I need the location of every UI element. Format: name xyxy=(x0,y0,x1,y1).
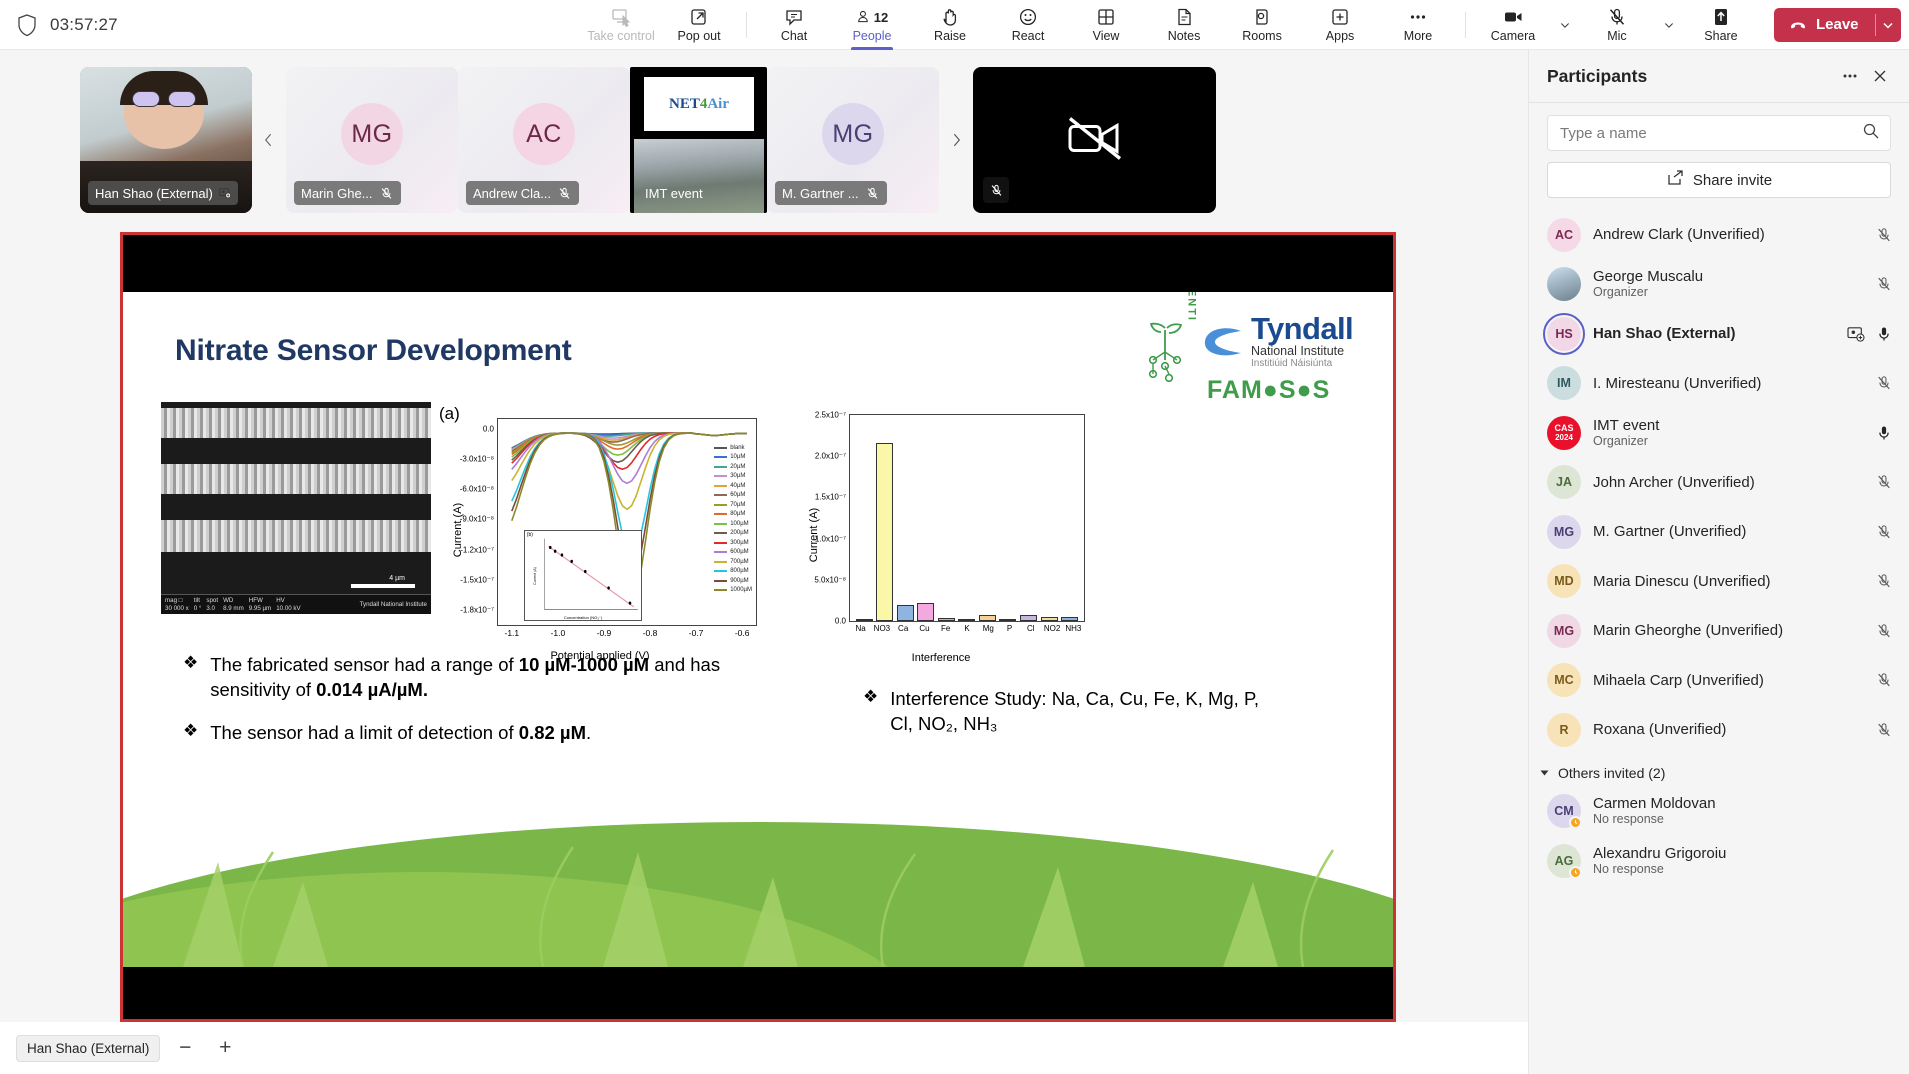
toolbar-button-label: Camera xyxy=(1491,29,1535,43)
share-invite-icon xyxy=(1666,169,1684,191)
legend-swatch xyxy=(714,570,727,572)
tile-name-label: Andrew Cla... xyxy=(473,186,551,201)
chart-a-panel-label: (a) xyxy=(439,404,460,424)
participant-icons xyxy=(1875,473,1893,491)
toolbar-button-label: Raise xyxy=(934,29,966,43)
participant-name: M. Gartner (Unverified) xyxy=(1593,523,1863,540)
avatar: JA xyxy=(1547,465,1581,499)
chart-a-xtick: -1.0 xyxy=(551,628,566,638)
participant-row[interactable]: MG M. Gartner (Unverified) xyxy=(1529,507,1909,557)
tile-name-chip: Han Shao (External) xyxy=(88,181,238,205)
sem-field-0: mag □ xyxy=(165,597,189,605)
chart-b-category-label: K xyxy=(964,624,969,633)
slide-bullet: ❖ The sensor had a limit of detection of… xyxy=(183,720,763,745)
mic-muted-list-icon[interactable] xyxy=(1875,671,1893,689)
chart-a-ytick: 0.0 xyxy=(483,425,494,434)
toolbar-button-rooms[interactable]: Rooms xyxy=(1223,0,1301,50)
participant-name: Han Shao (External) xyxy=(1593,325,1835,342)
camera-off-icon xyxy=(1065,115,1125,161)
legend-swatch xyxy=(714,542,727,544)
screen-share-icon[interactable] xyxy=(1847,326,1865,342)
participant-row[interactable]: MG Marin Gheorghe (Unverified) xyxy=(1529,606,1909,656)
sarmenti-label: SARMENTI xyxy=(1185,292,1197,322)
mic-muted-small-icon xyxy=(865,186,880,201)
participant-response-status: No response xyxy=(1593,812,1893,827)
share-up-arrow-icon xyxy=(1710,6,1732,28)
participant-info: John Archer (Unverified) xyxy=(1593,474,1863,491)
mic-muted-small-icon xyxy=(379,186,394,201)
sem-value-2: 3.0 xyxy=(206,605,218,613)
chart-b-category-label: Fe xyxy=(941,624,950,633)
legend-swatch xyxy=(714,523,727,525)
participant-icons xyxy=(1847,325,1893,343)
shield-icon xyxy=(16,13,38,37)
zoom-out-button[interactable]: − xyxy=(170,1033,200,1063)
mic-unmuted-icon[interactable] xyxy=(1875,424,1893,442)
legend-swatch xyxy=(714,551,727,553)
invited-participant-row[interactable]: AG Alexandru Grigoroiu No response xyxy=(1529,836,1909,886)
video-tile-avatar[interactable]: MGM. Gartner ... xyxy=(767,67,939,213)
tyndall-sub1: National Institute xyxy=(1251,344,1353,358)
legend-label: 1000µM xyxy=(730,587,752,593)
chart-a-legend-entry: 800µM xyxy=(714,567,752,577)
rooms-icon xyxy=(1251,6,1273,28)
filmstrip-next-button[interactable] xyxy=(939,67,973,213)
chart-b-category-label: Ca xyxy=(898,624,908,633)
toolbar-button-raise[interactable]: Raise xyxy=(911,0,989,50)
chart-a-legend-entry: 700µM xyxy=(714,557,752,567)
hangup-icon xyxy=(1788,15,1808,35)
chart-a-legend: blank 10µM 20µM 30µM 40µM 60µM 70µM 80µM… xyxy=(714,443,752,595)
toolbar-button-label: React xyxy=(1012,29,1045,43)
more-ellipsis-icon[interactable] xyxy=(1835,61,1865,91)
legend-label: 900µM xyxy=(730,578,748,584)
filmstrip-prev-button[interactable] xyxy=(252,67,286,213)
slide-logos: SARMENTI Tyndall National Institute Inst… xyxy=(1139,314,1369,400)
legend-label: 40µM xyxy=(730,483,745,489)
chart-a-xtick: -0.9 xyxy=(597,628,612,638)
legend-label: 20µM xyxy=(730,464,745,470)
chart-a-xtick: -0.7 xyxy=(689,628,704,638)
participant-role: Organizer xyxy=(1593,285,1863,300)
sem-value-0: 30 000 x xyxy=(165,605,189,613)
calibration-inset-chart: (b) Current (A) Concentration (NO₃⁻) xyxy=(524,530,643,621)
participant-name: Marin Gheorghe (Unverified) xyxy=(1593,622,1863,639)
chart-a-legend-entry: 100µM xyxy=(714,519,752,529)
participant-info: Mihaela Carp (Unverified) xyxy=(1593,672,1863,689)
chevron-right-icon xyxy=(947,129,965,151)
chart-b-bar xyxy=(979,615,996,621)
share-invite-button[interactable]: Share invite xyxy=(1547,162,1891,198)
screen-share-icon[interactable] xyxy=(219,185,231,201)
chart-a-legend-entry: 40µM xyxy=(714,481,752,491)
participant-icons xyxy=(1875,275,1893,293)
mic-muted-list-icon[interactable] xyxy=(1875,572,1893,590)
chart-b-category-label: P xyxy=(1007,624,1012,633)
mic-muted-list-icon[interactable] xyxy=(1875,226,1893,244)
sem-value-6: Tyndall National Institute xyxy=(360,601,427,609)
sem-field-3: WD xyxy=(223,597,244,605)
zoom-in-button[interactable]: + xyxy=(210,1033,240,1063)
avatar xyxy=(1547,267,1581,301)
meeting-timer: 03:57:27 xyxy=(50,15,118,35)
sem-value-3: 8.9 mm xyxy=(223,605,244,613)
famosos-logo: FAM●S●S xyxy=(1207,376,1330,405)
tile-name-chip: Andrew Cla... xyxy=(466,181,579,205)
chevron-left-icon xyxy=(260,129,278,151)
toolbar-button-react[interactable]: React xyxy=(989,0,1067,50)
net4air-label: NET4Air xyxy=(669,96,729,113)
toolbar-button-label: Mic xyxy=(1607,29,1626,43)
legend-swatch xyxy=(714,485,727,487)
participant-name: Mihaela Carp (Unverified) xyxy=(1593,672,1863,689)
search-input[interactable] xyxy=(1560,125,1862,142)
chart-a-ytick: -1.8x10⁻⁷ xyxy=(460,605,494,614)
avatar: HS xyxy=(1547,317,1581,351)
participant-name: Maria Dinescu (Unverified) xyxy=(1593,573,1863,590)
participant-icons xyxy=(1875,374,1893,392)
chevron-down-icon xyxy=(1557,14,1573,36)
chevron-down-icon xyxy=(1881,18,1895,32)
toolbar-button-label: View xyxy=(1093,29,1120,43)
toolbar-button-people[interactable]: 12 People xyxy=(833,0,911,50)
chevron-down-icon xyxy=(1661,14,1677,36)
others-invited-label: Others invited (2) xyxy=(1558,765,1665,781)
legend-swatch xyxy=(714,561,727,563)
tile-name-label: M. Gartner ... xyxy=(782,186,859,201)
presentation-bottom-bar: Han Shao (External) − + xyxy=(0,1022,1528,1074)
leave-options-button[interactable] xyxy=(1875,8,1901,42)
mic-unmuted-icon[interactable] xyxy=(1875,325,1893,343)
participant-name: Roxana (Unverified) xyxy=(1593,721,1863,738)
mic-muted-list-icon[interactable] xyxy=(1875,275,1893,293)
participant-info: IMT event Organizer xyxy=(1593,417,1863,449)
legend-label: 200µM xyxy=(730,530,748,536)
video-tile-active-speaker[interactable]: Han Shao (External) xyxy=(80,67,252,213)
legend-label: 70µM xyxy=(730,502,745,508)
mic-options-button[interactable] xyxy=(1656,0,1682,50)
tyndall-sub2: Institiúid Náisiúnta xyxy=(1251,358,1353,370)
chart-a-legend-entry: 1000µM xyxy=(714,586,752,596)
slide-title: Nitrate Sensor Development xyxy=(175,334,572,368)
participant-info: I. Miresteanu (Unverified) xyxy=(1593,375,1863,392)
participant-name: I. Miresteanu (Unverified) xyxy=(1593,375,1863,392)
toolbar-button-label: Apps xyxy=(1326,29,1355,43)
chart-b-bars xyxy=(850,415,1084,621)
sem-field-5: HV xyxy=(276,597,300,605)
inset-scatter xyxy=(525,531,642,620)
avatar: AG xyxy=(1547,844,1581,878)
chart-a-xtick: -0.8 xyxy=(643,628,658,638)
mic-muted-list-icon[interactable] xyxy=(1875,523,1893,541)
avatar: MG xyxy=(1547,515,1581,549)
participant-info: Carmen Moldovan No response xyxy=(1593,795,1893,827)
legend-swatch xyxy=(714,456,727,458)
video-tile-avatar[interactable]: ACAndrew Cla... xyxy=(458,67,630,213)
legend-label: 300µM xyxy=(730,540,748,546)
chart-a-legend-entry: blank xyxy=(714,443,752,453)
presentation-slide: Nitrate Sensor Development xyxy=(123,292,1393,967)
video-tile-camera-off[interactable] xyxy=(973,67,1216,213)
tyndall-mark-icon xyxy=(1201,321,1245,363)
participant-name: Andrew Clark (Unverified) xyxy=(1593,226,1863,243)
bullet-text: Interference Study: Na, Ca, Cu, Fe, K, M… xyxy=(890,686,1283,736)
search-icon[interactable] xyxy=(1862,122,1880,145)
sarmenti-logo: SARMENTI xyxy=(1139,316,1195,388)
bullet-marker: ❖ xyxy=(183,720,198,745)
take-control-icon xyxy=(610,6,632,28)
inset-xlabel: Concentration (NO₃⁻) xyxy=(525,615,642,620)
participant-icons xyxy=(1875,523,1893,541)
interference-bar-chart: Current (A) Interference 0.05.0x10⁻⁸1.0x… xyxy=(791,404,1091,666)
toolbar-divider xyxy=(746,12,747,38)
shared-screen-stage[interactable]: Nitrate Sensor Development xyxy=(120,232,1396,1022)
toolbar-button-mic[interactable]: Mic xyxy=(1578,0,1656,50)
toolbar-button-label: Share xyxy=(1704,29,1737,43)
chart-b-ytick: 2.5x10⁻⁷ xyxy=(815,411,846,420)
tile-name-chip: IMT event xyxy=(638,181,710,205)
toolbar-button-more[interactable]: More xyxy=(1379,0,1457,50)
participant-info: Maria Dinescu (Unverified) xyxy=(1593,573,1863,590)
chart-a-legend-entry: 200µM xyxy=(714,529,752,539)
teams-meeting-window: 03:57:27 Take control Pop out Chat12 Peo… xyxy=(0,0,1909,1074)
chart-b-bar xyxy=(1061,617,1078,621)
legend-swatch xyxy=(714,589,727,591)
toolbar-button-camera[interactable]: Camera xyxy=(1474,0,1552,50)
chart-a-legend-entry: 80µM xyxy=(714,510,752,520)
chart-a-legend-entry: 20µM xyxy=(714,462,752,472)
chart-b-bar xyxy=(999,619,1016,621)
participant-row[interactable]: MC Mihaela Carp (Unverified) xyxy=(1529,656,1909,706)
chart-b-bar xyxy=(1020,615,1037,621)
toolbar-button-view[interactable]: View xyxy=(1067,0,1145,50)
chart-a-ytick: -1.2x10⁻⁷ xyxy=(460,545,494,554)
chart-a-legend-entry: 600µM xyxy=(714,548,752,558)
legend-swatch xyxy=(714,504,727,506)
legend-swatch xyxy=(714,466,727,468)
participant-name: Alexandru Grigoroiu xyxy=(1593,845,1893,862)
tile-name-label: IMT event xyxy=(645,186,703,201)
participant-info: George Muscalu Organizer xyxy=(1593,268,1863,300)
bullet-marker: ❖ xyxy=(863,686,878,736)
participant-name: John Archer (Unverified) xyxy=(1593,474,1863,491)
slide-bullets-left: ❖ The fabricated sensor had a range of 1… xyxy=(183,652,763,763)
mic-muted-icon xyxy=(1606,6,1628,28)
toolbar-button-take-control: Take control xyxy=(582,0,660,50)
video-tile-room[interactable]: NET4Air IMT event xyxy=(630,67,767,213)
chart-a-ytick: -9.0x10⁻⁸ xyxy=(460,515,494,524)
net4air-logo: NET4Air xyxy=(644,77,754,131)
view-grid-icon xyxy=(1095,6,1117,28)
chart-a-legend-entry: 30µM xyxy=(714,472,752,482)
clock-pending-icon xyxy=(1571,868,1580,877)
participant-row[interactable]: MD Maria Dinescu (Unverified) xyxy=(1529,557,1909,607)
slide-bullet: ❖ The fabricated sensor had a range of 1… xyxy=(183,652,763,702)
bullet-text: The sensor had a limit of detection of 0… xyxy=(210,720,591,745)
share-invite-label: Share invite xyxy=(1693,172,1772,189)
camera-options-button[interactable] xyxy=(1552,0,1578,50)
tile-name-chip: M. Gartner ... xyxy=(775,181,887,205)
chart-b-bar xyxy=(876,443,893,621)
sem-value-4: 9.95 µm xyxy=(249,605,271,613)
toolbar-button-pop-out[interactable]: Pop out xyxy=(660,0,738,50)
legend-label: blank xyxy=(730,445,744,451)
sem-value-5: 10.00 kV xyxy=(276,605,300,613)
chart-b-category-label: Cu xyxy=(919,624,929,633)
legend-label: 80µM xyxy=(730,511,745,517)
toolbar-left: 03:57:27 xyxy=(0,13,582,37)
toolbar-button-chat[interactable]: Chat xyxy=(755,0,833,50)
participant-info: Andrew Clark (Unverified) xyxy=(1593,226,1863,243)
toolbar-button-apps[interactable]: Apps xyxy=(1301,0,1379,50)
avatar: MG xyxy=(341,103,403,165)
sem-scale-label: 4 µm xyxy=(389,575,405,582)
participant-info: Marin Gheorghe (Unverified) xyxy=(1593,622,1863,639)
tyndall-text: Tyndall National Institute Institiúid Ná… xyxy=(1251,314,1353,370)
participant-row[interactable]: IM I. Miresteanu (Unverified) xyxy=(1529,359,1909,409)
chart-b-ytick: 1.0x10⁻⁷ xyxy=(815,534,846,543)
participant-icons xyxy=(1875,226,1893,244)
mic-muted-list-icon[interactable] xyxy=(1875,622,1893,640)
legend-label: 10µM xyxy=(730,454,745,460)
pending-status-icon xyxy=(1569,816,1582,829)
chart-a-legend-entry: 300µM xyxy=(714,538,752,548)
video-tile-avatar[interactable]: MGMarin Ghe... xyxy=(286,67,458,213)
participant-row[interactable]: JA John Archer (Unverified) xyxy=(1529,458,1909,508)
raise-hand-icon xyxy=(939,6,961,28)
chart-b-xlabel: Interference xyxy=(791,652,1091,664)
camera-icon xyxy=(1502,6,1524,28)
more-ellipsis-icon xyxy=(1407,6,1429,28)
chart-a-legend-entry: 60µM xyxy=(714,491,752,501)
tile-name-label: Marin Ghe... xyxy=(301,186,373,201)
legend-swatch xyxy=(714,580,727,582)
toolbar-button-label: Take control xyxy=(587,29,654,43)
sem-field-4: HFW xyxy=(249,597,271,605)
toolbar-button-label: Pop out xyxy=(677,29,720,43)
tyndall-name: Tyndall xyxy=(1251,314,1353,344)
chart-b-category-label: NO3 xyxy=(874,624,890,633)
avatar: MG xyxy=(822,103,884,165)
mic-muted-list-icon[interactable] xyxy=(1875,721,1893,739)
chart-b-category-label: Mg xyxy=(983,624,994,633)
leave-button[interactable]: Leave xyxy=(1774,8,1875,42)
toolbar-button-label: Rooms xyxy=(1242,29,1282,43)
chart-b-ytick: 5.0x10⁻⁸ xyxy=(814,575,846,584)
close-icon[interactable] xyxy=(1865,61,1895,91)
panel-title: Participants xyxy=(1547,66,1835,87)
mic-muted-list-icon[interactable] xyxy=(1875,473,1893,491)
participants-list: AC Andrew Clark (Unverified) George Musc… xyxy=(1529,210,1909,1074)
avatar: MG xyxy=(1547,614,1581,648)
meeting-toolbar: 03:57:27 Take control Pop out Chat12 Peo… xyxy=(0,0,1909,50)
participant-info: M. Gartner (Unverified) xyxy=(1593,523,1863,540)
participant-filmstrip: Han Shao (External)MGMarin Ghe...ACAndre… xyxy=(0,50,1528,230)
inset-panel-label: (b) xyxy=(527,532,533,538)
participant-search-box[interactable] xyxy=(1547,115,1891,151)
toolbar-media-controls: CameraMicShare xyxy=(1474,0,1760,50)
chart-b-bar xyxy=(958,619,975,621)
react-smiley-icon xyxy=(1017,6,1039,28)
participant-row[interactable]: HS Han Shao (External) xyxy=(1529,309,1909,359)
chart-a-legend-entry: 900µM xyxy=(714,576,752,586)
participant-row[interactable]: R Roxana (Unverified) xyxy=(1529,705,1909,755)
participant-icons xyxy=(1875,622,1893,640)
chart-b-bar xyxy=(897,605,914,621)
slide-bullets-right: ❖ Interference Study: Na, Ca, Cu, Fe, K,… xyxy=(863,686,1283,754)
participant-icons xyxy=(1875,671,1893,689)
sem-field-2: spot xyxy=(206,597,218,605)
legend-label: 800µM xyxy=(730,568,748,574)
sem-info-bar: mag □30 000 x tilt0 ° spot3.0 WD8.9 mm H… xyxy=(161,594,431,614)
legend-swatch xyxy=(714,532,727,534)
chart-a-ytick: -6.0x10⁻⁸ xyxy=(460,485,494,494)
notes-icon xyxy=(1173,6,1195,28)
participant-name: George Muscalu xyxy=(1593,268,1863,285)
avatar: CM xyxy=(1547,794,1581,828)
chart-b-category-label: NH3 xyxy=(1065,624,1081,633)
avatar: R xyxy=(1547,713,1581,747)
toolbar-divider xyxy=(1465,12,1466,38)
legend-swatch xyxy=(714,475,727,477)
people-icon xyxy=(856,6,873,28)
participant-info: Alexandru Grigoroiu No response xyxy=(1593,845,1893,877)
pop-out-icon xyxy=(688,6,710,28)
avatar: AC xyxy=(1547,218,1581,252)
participant-icons xyxy=(1875,721,1893,739)
slide-grass-decoration xyxy=(123,752,1393,967)
legend-label: 60µM xyxy=(730,492,745,498)
chart-b-ytick: 1.5x10⁻⁷ xyxy=(815,493,846,502)
participants-panel: Participants Share invite AC xyxy=(1528,50,1909,1074)
tyndall-logo: Tyndall National Institute Institiúid Ná… xyxy=(1201,314,1353,370)
avatar: CAS2024 xyxy=(1547,416,1581,450)
participants-panel-header: Participants xyxy=(1529,50,1909,102)
toolbar-button-label: Notes xyxy=(1168,29,1201,43)
mic-muted-list-icon[interactable] xyxy=(1875,374,1893,392)
toolbar-button-share[interactable]: Share xyxy=(1682,0,1760,50)
triangle-down-icon xyxy=(1539,767,1550,778)
chart-b-ytick: 0.0 xyxy=(835,617,846,626)
sem-value-1: 0 ° xyxy=(194,605,202,613)
legend-label: 100µM xyxy=(730,521,748,527)
participant-response-status: No response xyxy=(1593,862,1893,877)
participant-row[interactable]: George Muscalu Organizer xyxy=(1529,260,1909,310)
slide-bullet: ❖ Interference Study: Na, Ca, Cu, Fe, K,… xyxy=(863,686,1283,736)
toolbar-button-label: More xyxy=(1404,29,1432,43)
participant-row[interactable]: CAS2024 IMT event Organizer xyxy=(1529,408,1909,458)
sem-field-1: tilt xyxy=(194,597,202,605)
mic-muted-small-icon xyxy=(989,183,1004,198)
chart-b-ytick: 2.0x10⁻⁷ xyxy=(815,452,846,461)
presenter-name-chip: Han Shao (External) xyxy=(16,1035,160,1062)
chart-b-plot-area: 0.05.0x10⁻⁸1.0x10⁻⁷1.5x10⁻⁷2.0x10⁻⁷2.5x1… xyxy=(849,414,1085,622)
invited-participant-row[interactable]: CM Carmen Moldovan No response xyxy=(1529,787,1909,837)
chart-a-xtick: -1.1 xyxy=(504,628,519,638)
chart-b-category-label: Na xyxy=(856,624,866,633)
participant-icons xyxy=(1875,424,1893,442)
participant-row[interactable]: AC Andrew Clark (Unverified) xyxy=(1529,210,1909,260)
tile-name-chip: Marin Ghe... xyxy=(294,181,401,205)
legend-label: 600µM xyxy=(730,549,748,555)
chart-b-bar xyxy=(938,618,955,621)
others-invited-group-header[interactable]: Others invited (2) xyxy=(1529,755,1909,787)
toolbar-button-notes[interactable]: Notes xyxy=(1145,0,1223,50)
tile-name-label: Han Shao (External) xyxy=(95,186,213,201)
legend-swatch xyxy=(714,513,727,515)
chart-a-legend-entry: 10µM xyxy=(714,453,752,463)
chart-a-plot-area: blank 10µM 20µM 30µM 40µM 60µM 70µM 80µM… xyxy=(497,418,757,626)
